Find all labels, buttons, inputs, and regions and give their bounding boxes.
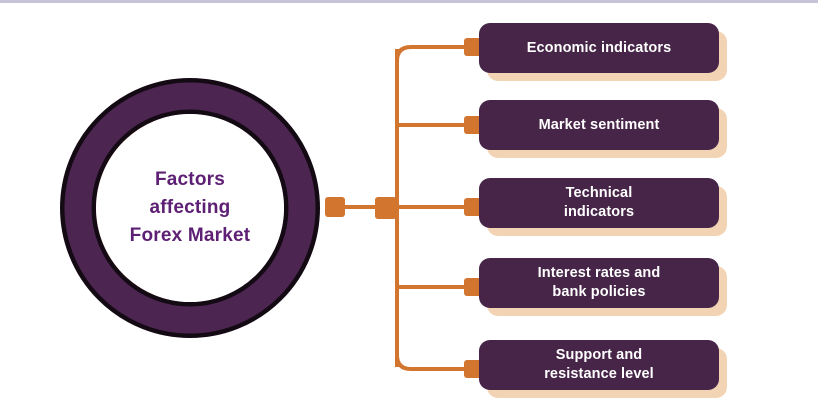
- factor-box-support-and-resistance-level[interactable]: Support and resistance level: [479, 340, 719, 390]
- factor-label-line-2: resistance level: [544, 366, 654, 382]
- connector-node-hub[interactable]: [325, 197, 345, 217]
- factor-label-line-2: indicators: [564, 204, 634, 220]
- factor-label-line-2: bank policies: [552, 284, 645, 300]
- wire-elbow-top: [397, 47, 467, 61]
- factor-box-economic-indicators[interactable]: Economic indicators: [479, 23, 719, 73]
- factor-box-technical-indicators[interactable]: Technical indicators: [479, 178, 719, 228]
- connector-node-spine[interactable]: [375, 197, 397, 219]
- factor-label-line-1: Economic indicators: [527, 40, 672, 56]
- hub-inner-face: [96, 114, 284, 302]
- diagram-canvas: Factors affecting Forex Market: [0, 0, 818, 414]
- factor-box-label: Interest rates and bank policies: [528, 264, 671, 302]
- hub-rings-graphic: [55, 73, 325, 343]
- factor-box-label: Support and resistance level: [534, 346, 664, 384]
- factor-box-label: Technical indicators: [554, 184, 644, 222]
- factor-label-line-1: Technical: [566, 185, 633, 201]
- factor-label-line-1: Interest rates and: [538, 265, 661, 281]
- factor-box-label: Market sentiment: [529, 116, 670, 135]
- factor-label-line-1: Market sentiment: [539, 117, 660, 133]
- factor-label-line-1: Support and: [556, 347, 642, 363]
- factor-box-interest-rates-and-bank-policies[interactable]: Interest rates and bank policies: [479, 258, 719, 308]
- top-divider-rule: [0, 0, 818, 3]
- factor-box-market-sentiment[interactable]: Market sentiment: [479, 100, 719, 150]
- factor-box-label: Economic indicators: [517, 39, 682, 58]
- wire-elbow-bottom: [397, 355, 467, 369]
- central-hub[interactable]: Factors affecting Forex Market: [55, 73, 325, 343]
